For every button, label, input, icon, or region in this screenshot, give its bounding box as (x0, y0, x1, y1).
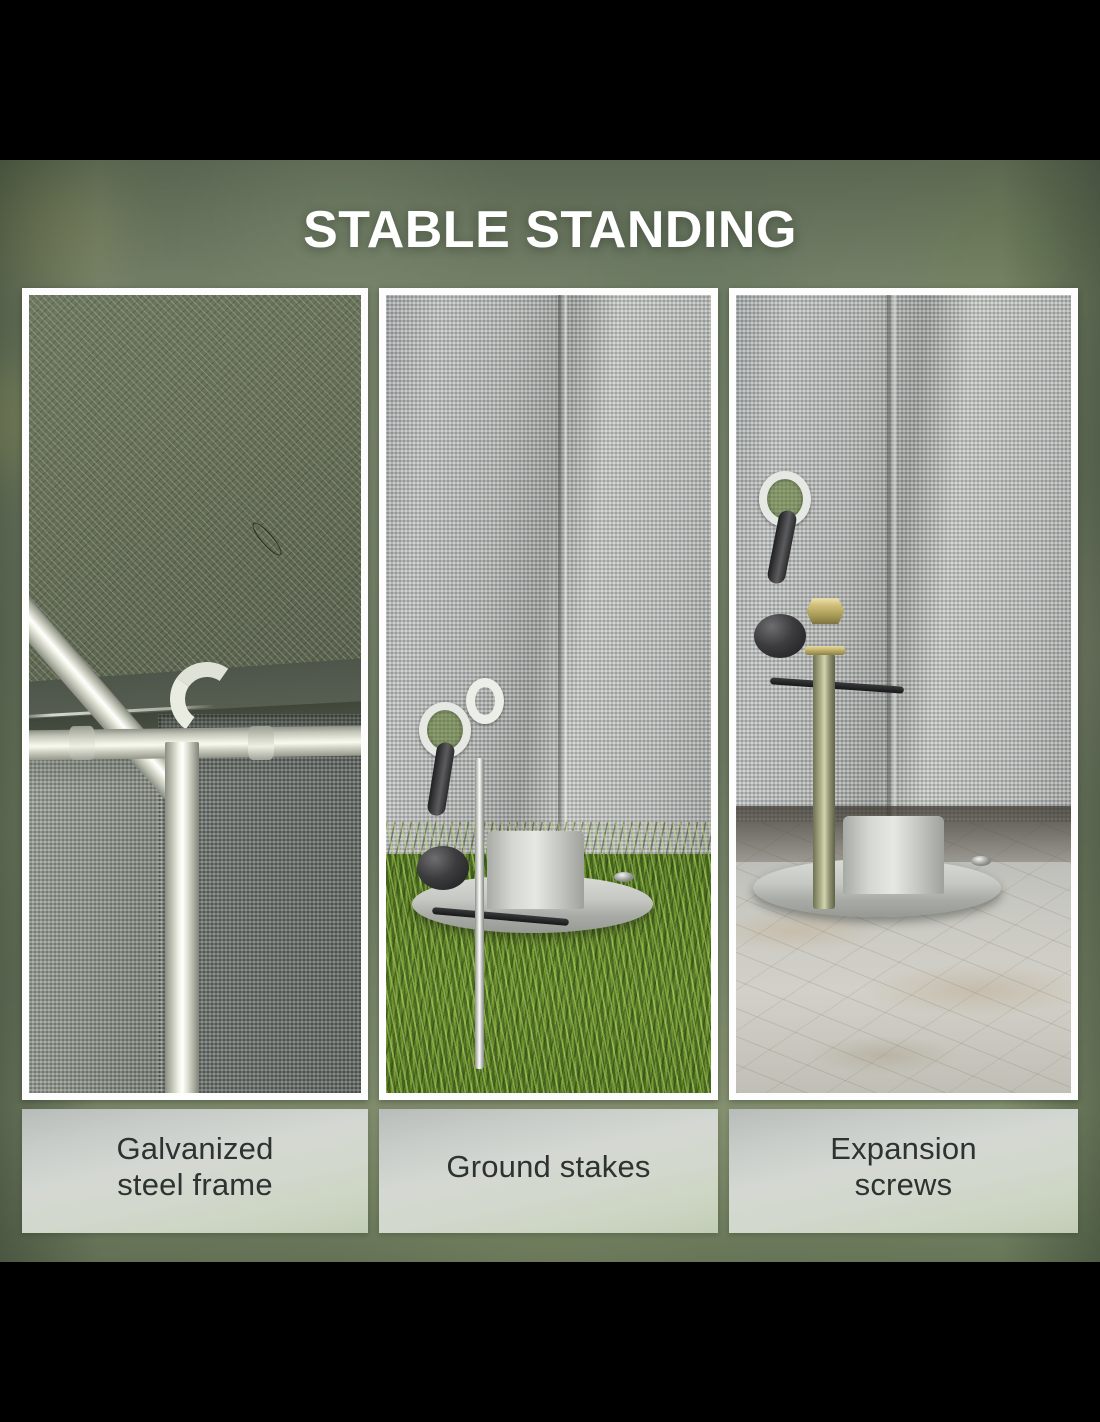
feature-panel-galvanized-steel-frame[interactable]: Galvanized steel frame (22, 288, 368, 1233)
photo-galvanized-steel-frame (22, 288, 368, 1100)
ground-stake-loop (466, 678, 504, 724)
photo-expansion-screws (729, 288, 1078, 1100)
feature-panel-row: Galvanized steel frame (22, 288, 1078, 1233)
tube-coupler-left (69, 726, 95, 760)
caption-ground-stakes: Ground stakes (379, 1109, 718, 1233)
feature-panel-expansion-screws[interactable]: Expansion screws (729, 288, 1078, 1233)
photo-ground-stakes (379, 288, 718, 1100)
promo-stage: STABLE STANDING (0, 160, 1100, 1262)
caption-line-2: screws (830, 1167, 977, 1203)
caption-line-1: Ground stakes (446, 1149, 650, 1185)
feature-panel-ground-stakes[interactable]: Ground stakes (379, 288, 718, 1233)
ground-stake-shaft (475, 758, 484, 1069)
bungee-ball-tie (417, 846, 469, 890)
base-plate-hole (971, 856, 991, 866)
caption-expansion-screws: Expansion screws (729, 1109, 1078, 1233)
page-title: STABLE STANDING (0, 200, 1100, 260)
base-plate-hole (614, 872, 634, 882)
caption-galvanized-steel-frame: Galvanized steel frame (22, 1109, 368, 1233)
vertical-steel-post (165, 742, 199, 1093)
expansion-anchor-sleeve (813, 654, 835, 909)
screw-washer (805, 646, 845, 655)
hex-bolt-head (806, 598, 844, 624)
caption-line-2: steel frame (116, 1167, 273, 1203)
shed-leg-post (843, 816, 944, 894)
tube-coupler-right (248, 726, 274, 760)
caption-line-1: Expansion (830, 1131, 977, 1167)
letterbox-bottom-bar (0, 1262, 1100, 1422)
shed-leg-post (487, 831, 585, 909)
caption-line-1: Galvanized (116, 1131, 273, 1167)
letterbox-top-bar (0, 0, 1100, 160)
